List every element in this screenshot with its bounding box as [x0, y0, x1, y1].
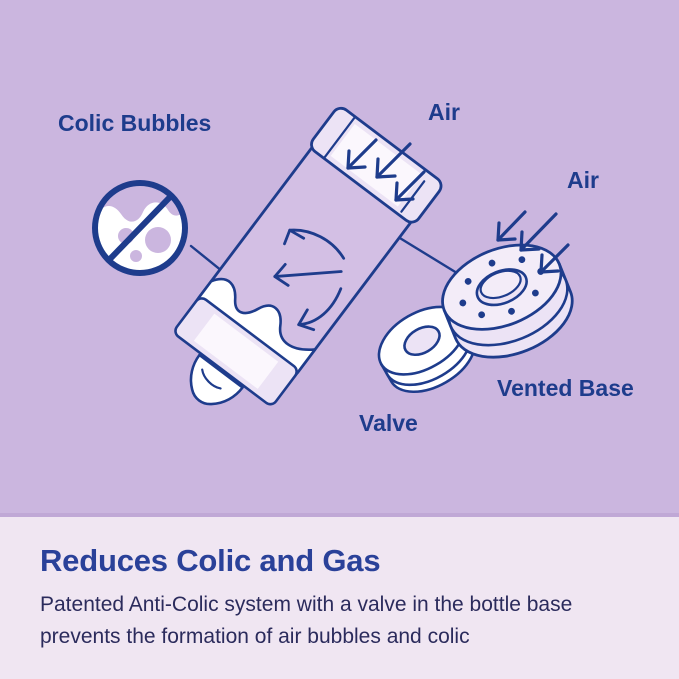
no-bubbles-icon	[95, 183, 185, 273]
label-air-left: Air	[428, 99, 460, 125]
label-vented-base: Vented Base	[497, 375, 634, 401]
bubble-2	[145, 227, 171, 253]
label-air-right: Air	[567, 167, 599, 193]
caption-heading: Reduces Colic and Gas	[40, 543, 380, 579]
air-arrow-right-2	[521, 214, 556, 250]
diagram-panel: Colic Bubbles Air Air Valve Vented Base	[0, 0, 679, 515]
anti-colic-diagram: Colic Bubbles Air Air Valve Vented Base	[0, 0, 679, 515]
product-feature-infographic: Colic Bubbles Air Air Valve Vented Base …	[0, 0, 679, 679]
caption-panel: Reduces Colic and Gas Patented Anti-Coli…	[0, 517, 679, 679]
caption-body: Patented Anti-Colic system with a valve …	[40, 589, 650, 653]
label-colic-bubbles: Colic Bubbles	[58, 110, 211, 136]
label-valve: Valve	[359, 410, 418, 436]
bubble-3	[130, 250, 142, 262]
